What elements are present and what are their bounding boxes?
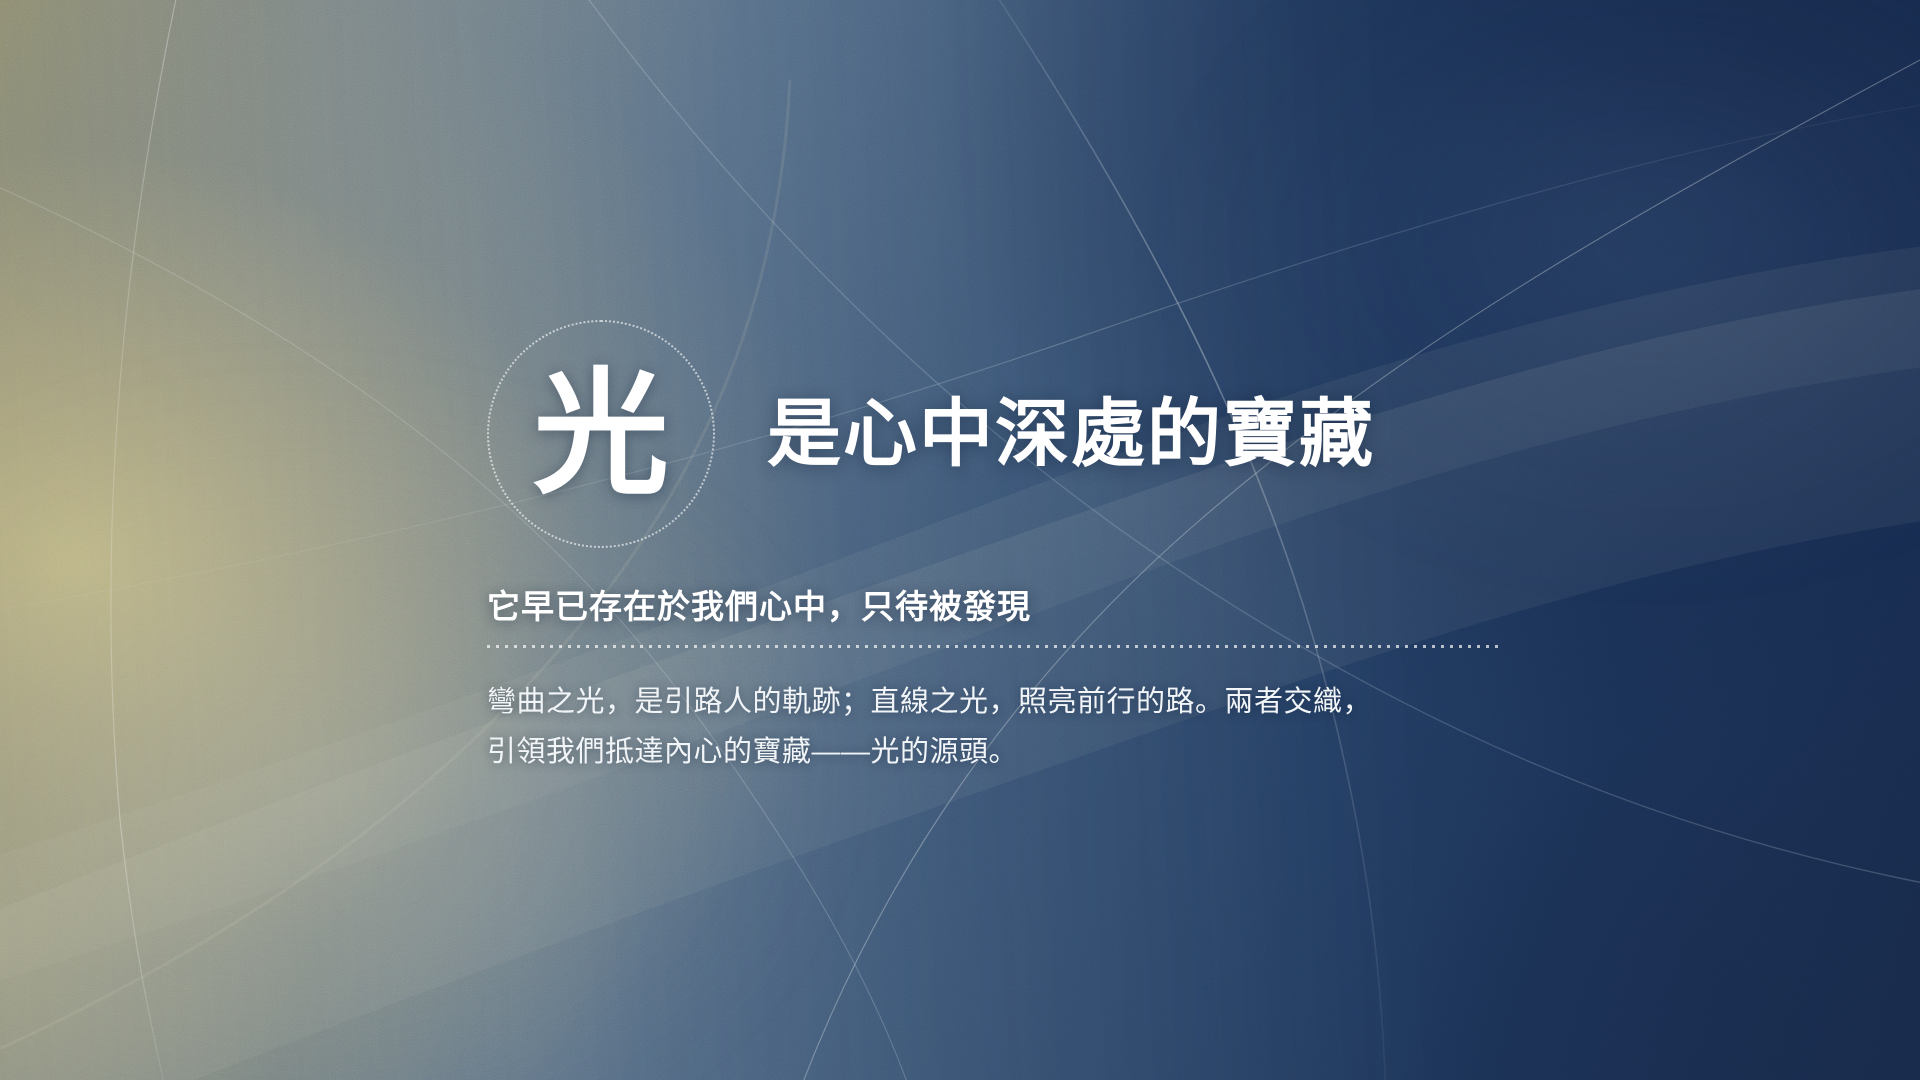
slide-content: 光 是心中深處的寶藏 它早已存在於我們心中，只待被發現 彎曲之光，是引路人的軌跡… <box>0 0 1920 1080</box>
headline-text: 是心中深處的寶藏 <box>767 395 1375 473</box>
subtitle-text: 它早已存在於我們心中，只待被發現 <box>487 580 1031 628</box>
body-line: 彎曲之光，是引路人的軌跡；直線之光，照亮前行的路。兩者交織， <box>487 678 1517 728</box>
headline: 光 是心中深處的寶藏 <box>487 320 1375 548</box>
slide-canvas: 光 是心中深處的寶藏 它早已存在於我們心中，只待被發現 彎曲之光，是引路人的軌跡… <box>0 0 1920 1080</box>
emphasis-glyph: 光 <box>533 366 669 502</box>
body-line: 引領我們抵達內心的寶藏——光的源頭。 <box>487 728 1517 778</box>
body-paragraph: 彎曲之光，是引路人的軌跡；直線之光，照亮前行的路。兩者交織， 引領我們抵達內心的… <box>487 678 1517 778</box>
emphasis-glyph-container: 光 <box>487 320 715 548</box>
dotted-divider <box>487 645 1501 648</box>
